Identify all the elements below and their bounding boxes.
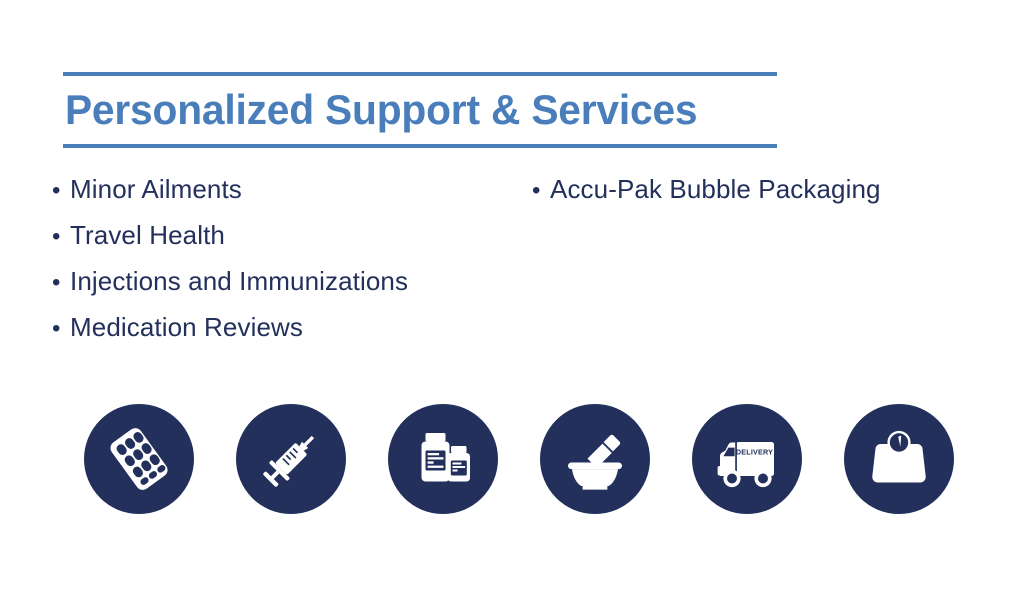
bullet-icon: • (52, 179, 70, 203)
list-item: • Minor Ailments (52, 176, 532, 222)
pill-bottles-icon (406, 422, 480, 496)
bullet-icon: • (532, 179, 550, 203)
service-icon-row: DELIVERY (0, 404, 1025, 516)
list-item-label: Injections and Immunizations (70, 268, 408, 294)
list-item: • Accu-Pak Bubble Packaging (532, 176, 1012, 222)
icon-badge-pill-bottles (388, 404, 498, 514)
truck-delivery-label: DELIVERY (736, 447, 773, 456)
icon-badge-mortar-and-pestle (540, 404, 650, 514)
mortar-and-pestle-icon (558, 422, 632, 496)
bullet-icon: • (52, 317, 70, 341)
syringe-icon (254, 422, 328, 496)
page-title: Personalized Support & Services (63, 76, 756, 144)
page-title-block: Personalized Support & Services (63, 72, 777, 148)
list-item-label: Accu-Pak Bubble Packaging (550, 176, 881, 202)
icon-badge-delivery-truck: DELIVERY (692, 404, 802, 514)
list-item: • Medication Reviews (52, 314, 532, 360)
services-list-right: • Accu-Pak Bubble Packaging (532, 176, 1012, 222)
icon-badge-blister-pack (84, 404, 194, 514)
blister-pack-icon (102, 422, 176, 496)
services-list-left: • Minor Ailments • Travel Health • Injec… (52, 176, 532, 360)
delivery-truck-icon: DELIVERY (708, 422, 786, 496)
weighing-scale-icon (862, 422, 936, 496)
bullet-icon: • (52, 225, 70, 249)
list-item-label: Medication Reviews (70, 314, 303, 340)
list-item: • Injections and Immunizations (52, 268, 532, 314)
icon-badge-weighing-scale (844, 404, 954, 514)
list-item-label: Minor Ailments (70, 176, 242, 202)
bullet-icon: • (52, 271, 70, 295)
icon-badge-syringe (236, 404, 346, 514)
services-lists: • Minor Ailments • Travel Health • Injec… (0, 176, 1025, 366)
list-item-label: Travel Health (70, 222, 225, 248)
list-item: • Travel Health (52, 222, 532, 268)
title-rule-bottom (63, 144, 777, 148)
